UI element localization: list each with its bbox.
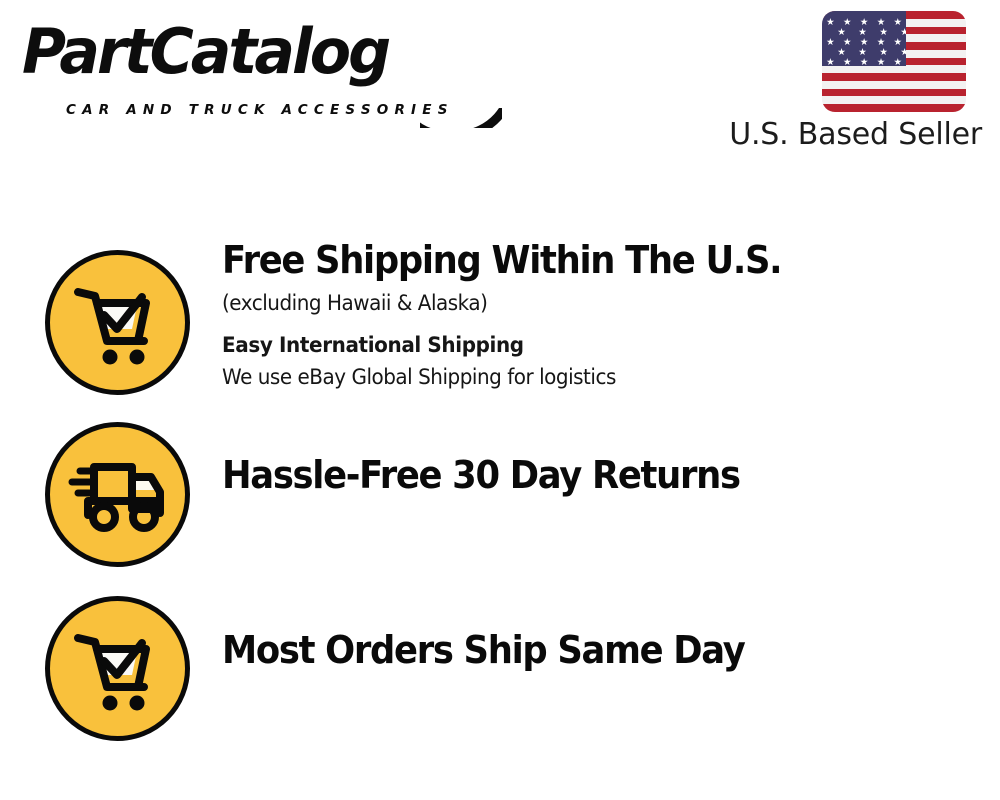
- feature-text-block: Most Orders Ship Same Day: [222, 626, 980, 674]
- feature-headline: Free Shipping Within The U.S.: [222, 236, 927, 284]
- shopping-cart-check-icon: [45, 250, 190, 395]
- delivery-truck-icon: [45, 422, 190, 567]
- brand-wordmark: PartCatalog: [22, 16, 388, 88]
- brand-logo: PartCatalog CAR AND TRUCK ACCESSORIES: [22, 16, 522, 116]
- feature-headline: Most Orders Ship Same Day: [222, 626, 927, 674]
- feature-text-block: Hassle-Free 30 Day Returns: [222, 451, 980, 499]
- shopping-cart-check-icon: [45, 596, 190, 741]
- feature-sub-text: We use eBay Global Shipping for logistic…: [222, 362, 942, 393]
- flag-canton: ★★★★★ ★★★★ ★★★★★ ★★★★ ★★★★★: [822, 11, 906, 66]
- feature-list: Free Shipping Within The U.S. (excluding…: [0, 236, 1000, 768]
- feature-note: (excluding Hawaii & Alaska): [222, 288, 942, 319]
- feature-sub-heading: Easy International Shipping: [222, 330, 942, 361]
- feature-row-free-shipping: Free Shipping Within The U.S. (excluding…: [0, 236, 1000, 416]
- seller-label: U.S. Based Seller: [716, 116, 982, 154]
- feature-row-returns: Hassle-Free 30 Day Returns: [0, 416, 1000, 588]
- logo-swash-decoration: [420, 108, 502, 128]
- banner-header: PartCatalog CAR AND TRUCK ACCESSORIES ★★…: [0, 0, 1000, 175]
- brand-tagline: CAR AND TRUCK ACCESSORIES: [66, 102, 454, 118]
- feature-text-block: Free Shipping Within The U.S. (excluding…: [222, 236, 980, 393]
- seller-badge: ★★★★★ ★★★★ ★★★★★ ★★★★ ★★★★★ U.S. Based S…: [716, 8, 984, 160]
- us-flag-icon: ★★★★★ ★★★★ ★★★★★ ★★★★ ★★★★★: [822, 11, 966, 112]
- feature-headline: Hassle-Free 30 Day Returns: [222, 451, 927, 499]
- feature-row-same-day-ship: Most Orders Ship Same Day: [0, 588, 1000, 768]
